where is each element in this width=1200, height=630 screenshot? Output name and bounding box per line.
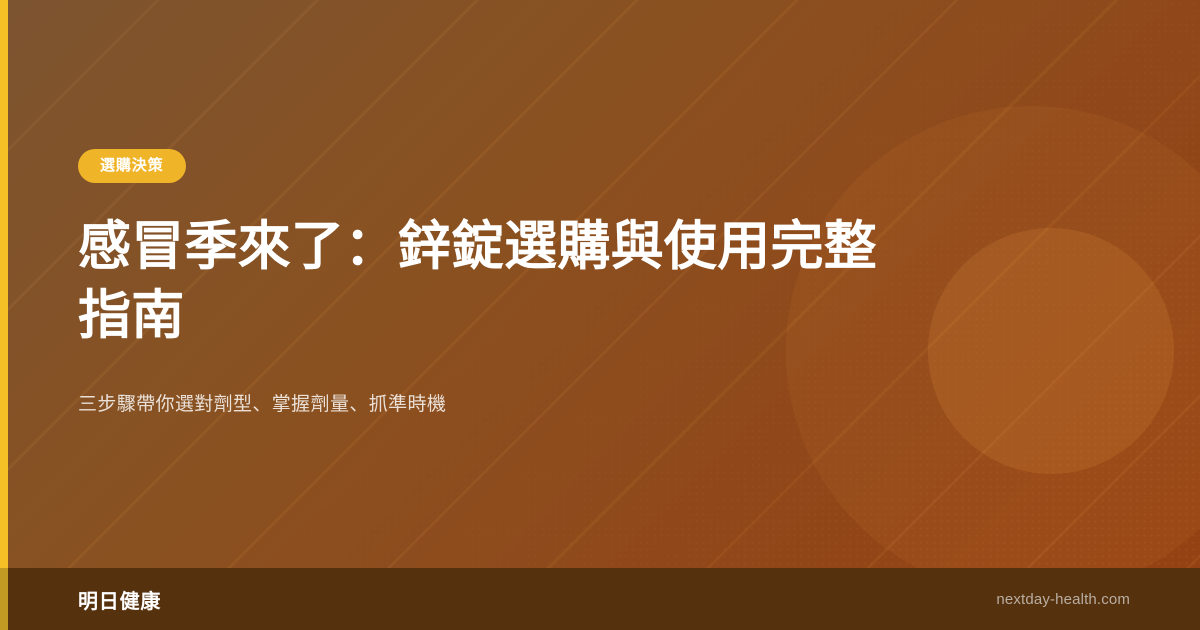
left-accent-bar-footer-segment [0, 568, 8, 630]
og-share-card: 選購決策 感冒季來了：鋅錠選購與使用完整指南 三步驟帶你選對劑型、掌握劑量、抓準… [0, 0, 1200, 630]
card-title: 感冒季來了：鋅錠選購與使用完整指南 [78, 213, 908, 351]
card-subtitle: 三步驟帶你選對劑型、掌握劑量、抓準時機 [78, 391, 958, 420]
decorative-circle-inner [928, 228, 1174, 474]
card-content: 選購決策 感冒季來了：鋅錠選購與使用完整指南 三步驟帶你選對劑型、掌握劑量、抓準… [78, 0, 958, 568]
site-brand-name: 明日健康 [78, 585, 161, 614]
category-badge: 選購決策 [78, 149, 186, 183]
site-domain: nextday-health.com [996, 591, 1130, 608]
card-footer: 明日健康 nextday-health.com [0, 568, 1200, 630]
left-accent-bar [0, 0, 8, 630]
